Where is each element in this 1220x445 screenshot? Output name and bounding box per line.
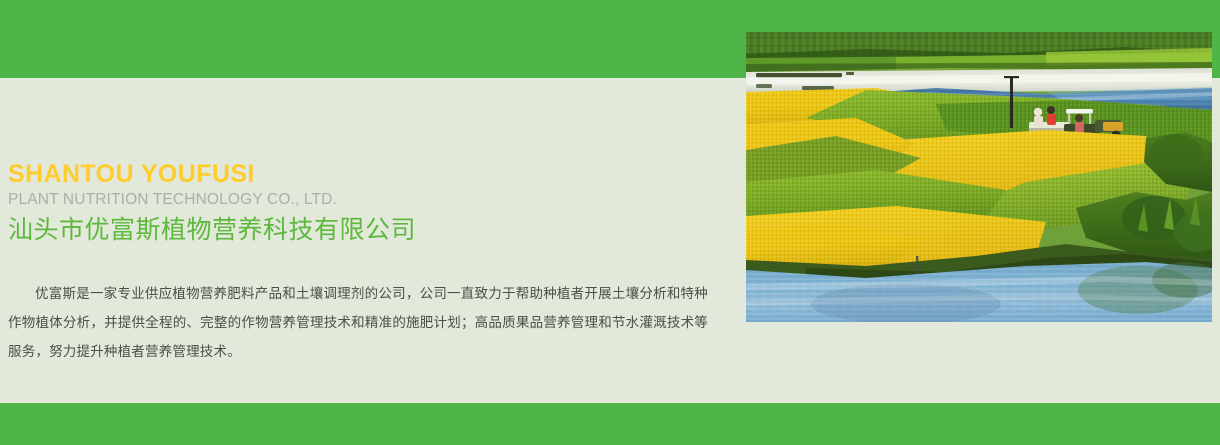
farmland-photo-illustration <box>746 32 1212 322</box>
brand-name-english: SHANTOU YOUFUSI <box>8 160 714 189</box>
company-profile-page: SHANTOU YOUFUSI PLANT NUTRITION TECHNOLO… <box>0 0 1220 445</box>
brand-name-chinese: 汕头市优富斯植物营养科技有限公司 <box>8 215 714 246</box>
company-description-paragraph: 优富斯是一家专业供应植物营养肥料产品和土壤调理剂的公司，公司一直致力于帮助种植者… <box>8 279 708 366</box>
brand-subtitle-english: PLANT NUTRITION TECHNOLOGY CO., LTD. <box>8 191 714 210</box>
bottom-green-band <box>0 403 1220 445</box>
company-intro-block: SHANTOU YOUFUSI PLANT NUTRITION TECHNOLO… <box>8 160 714 366</box>
farmland-photo <box>746 32 1212 322</box>
